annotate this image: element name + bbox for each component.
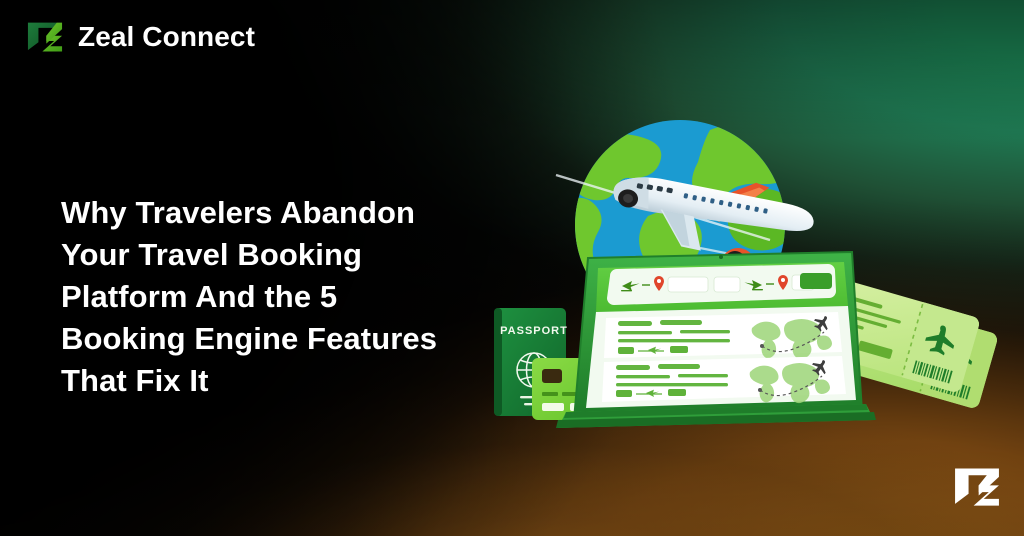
travel-booking-illustration: PASSPORT xyxy=(470,120,1024,440)
laptop-graphic xyxy=(556,252,876,428)
flight-search-bar xyxy=(607,264,836,305)
blog-banner: Zeal Connect Why Travelers Abandon Your … xyxy=(0,0,1024,536)
page-title: Why Travelers Abandon Your Travel Bookin… xyxy=(61,192,461,402)
brand-logo[interactable]: Zeal Connect xyxy=(24,16,255,58)
departure-date-input xyxy=(714,277,740,292)
departure-input xyxy=(668,277,708,292)
zeal-z-logo-icon xyxy=(24,16,66,58)
corner-watermark-logo xyxy=(950,460,1004,514)
passport-label: PASSPORT xyxy=(500,325,568,337)
zeal-z-logo-icon xyxy=(950,460,1004,514)
card-chip xyxy=(542,369,562,383)
search-button xyxy=(800,273,832,289)
flight-result-row-1 xyxy=(604,312,842,359)
brand-name: Zeal Connect xyxy=(78,23,255,51)
